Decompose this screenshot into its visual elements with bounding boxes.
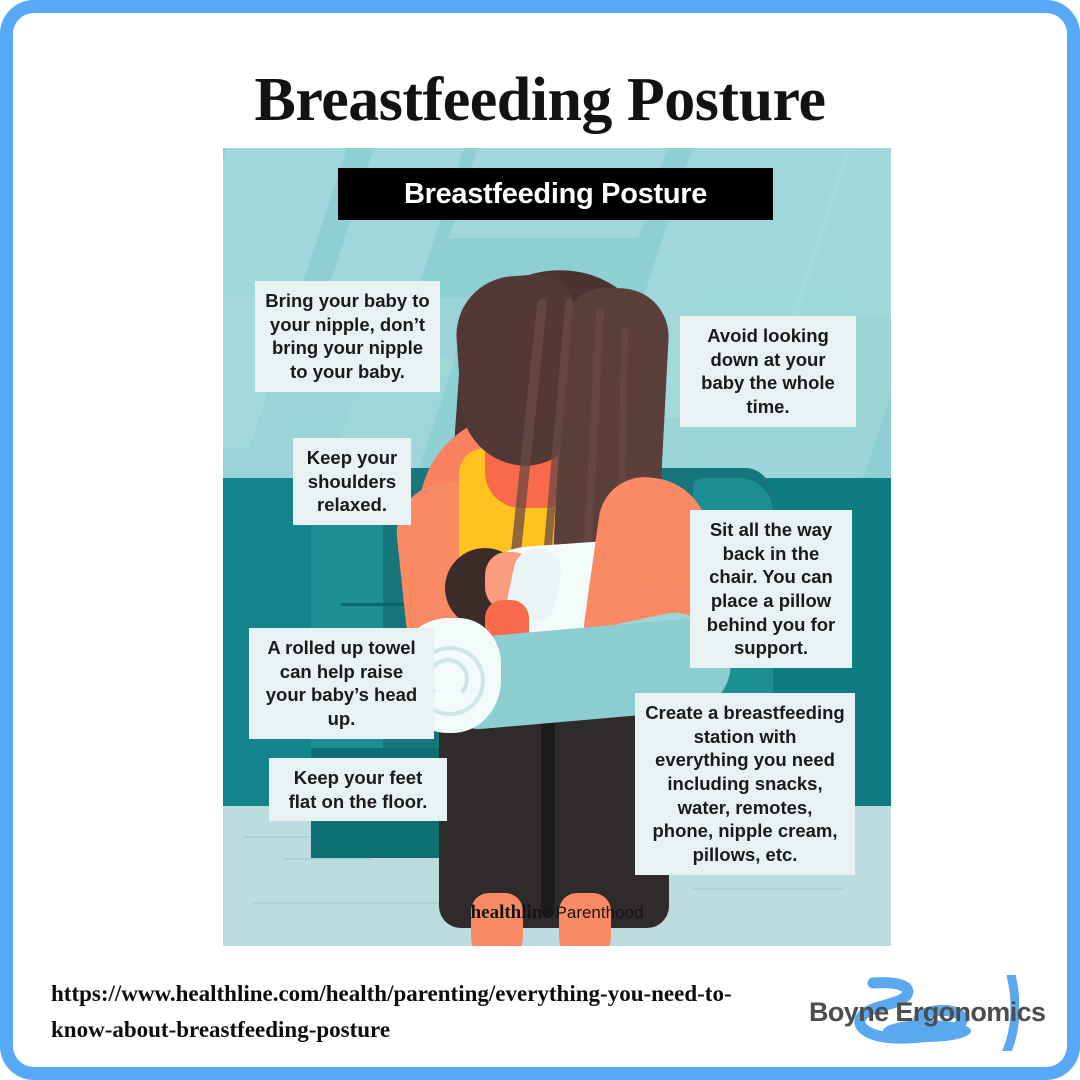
- callout-feet-flat: Keep your feet flat on the floor.: [269, 758, 447, 821]
- callout-bring-baby-to-nipple: Bring your baby to your nipple, don’t br…: [255, 281, 440, 392]
- page-title: Breastfeeding Posture: [13, 65, 1067, 136]
- mother-leg-gap: [541, 708, 555, 918]
- brand-healthline: healthline: [471, 902, 551, 923]
- page-frame: Breastfeeding Posture: [0, 0, 1080, 1080]
- callout-avoid-looking-down: Avoid looking down at your baby the whol…: [680, 316, 856, 427]
- floor-grain-line: [283, 858, 373, 860]
- callout-breastfeeding-station: Create a breastfeeding station with ever…: [635, 693, 855, 875]
- poster-brand-footer: healthline Parenthood: [223, 902, 891, 924]
- poster-banner: Breastfeeding Posture: [338, 168, 773, 220]
- boyne-ergonomics-logo[interactable]: Boyne Ergonomics: [809, 975, 1019, 1051]
- logo-wordmark: Boyne Ergonomics: [809, 997, 1019, 1028]
- callout-rolled-up-towel: A rolled up towel can help raise your ba…: [249, 628, 434, 739]
- callout-shoulders-relaxed: Keep your shoulders relaxed.: [293, 438, 411, 525]
- poster-banner-title: Breastfeeding Posture: [404, 178, 707, 211]
- infographic-poster: Breastfeeding Posture Bring your baby to…: [223, 148, 891, 946]
- callout-sit-back-in-chair: Sit all the way back in the chair. You c…: [690, 510, 852, 668]
- floor-grain-line: [693, 888, 843, 890]
- source-url[interactable]: https://www.healthline.com/health/parent…: [51, 976, 751, 1047]
- brand-parenthood: Parenthood: [551, 903, 644, 922]
